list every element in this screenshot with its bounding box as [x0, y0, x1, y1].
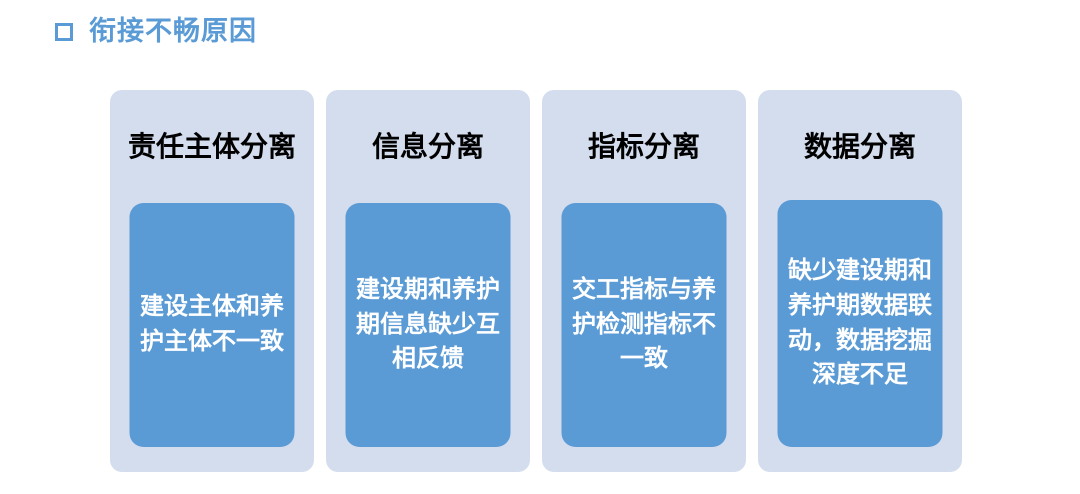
card-header-label: 责任主体分离 [128, 133, 296, 161]
card-body-text: 建设期和养护期信息缺少互相反馈 [354, 273, 503, 377]
slide-title-row: 衔接不畅原因 [55, 18, 257, 45]
card-body-text: 交工指标与养护检测指标不一致 [570, 273, 719, 377]
card-body-panel: 建设主体和养护主体不一致 [130, 203, 295, 447]
reason-card-indicator[interactable]: 指标分离 交工指标与养护检测指标不一致 [542, 90, 746, 472]
card-body-panel: 交工指标与养护检测指标不一致 [562, 203, 727, 447]
card-body-panel: 缺少建设期和养护期数据联动，数据挖掘深度不足 [778, 200, 943, 447]
square-outline-icon [55, 23, 73, 41]
card-header-label: 指标分离 [588, 133, 700, 161]
card-body-text: 建设主体和养护主体不一致 [138, 290, 287, 360]
reason-card-responsibility[interactable]: 责任主体分离 建设主体和养护主体不一致 [110, 90, 314, 472]
page-title: 衔接不畅原因 [89, 18, 257, 45]
reason-cards-row: 责任主体分离 建设主体和养护主体不一致 信息分离 建设期和养护期信息缺少互相反馈… [110, 90, 962, 472]
card-body-text: 缺少建设期和养护期数据联动，数据挖掘深度不足 [786, 254, 935, 393]
reason-card-data[interactable]: 数据分离 缺少建设期和养护期数据联动，数据挖掘深度不足 [758, 90, 962, 472]
card-body-panel: 建设期和养护期信息缺少互相反馈 [346, 203, 511, 447]
card-header-label: 信息分离 [372, 133, 484, 161]
card-header-label: 数据分离 [804, 133, 916, 161]
reason-card-information[interactable]: 信息分离 建设期和养护期信息缺少互相反馈 [326, 90, 530, 472]
